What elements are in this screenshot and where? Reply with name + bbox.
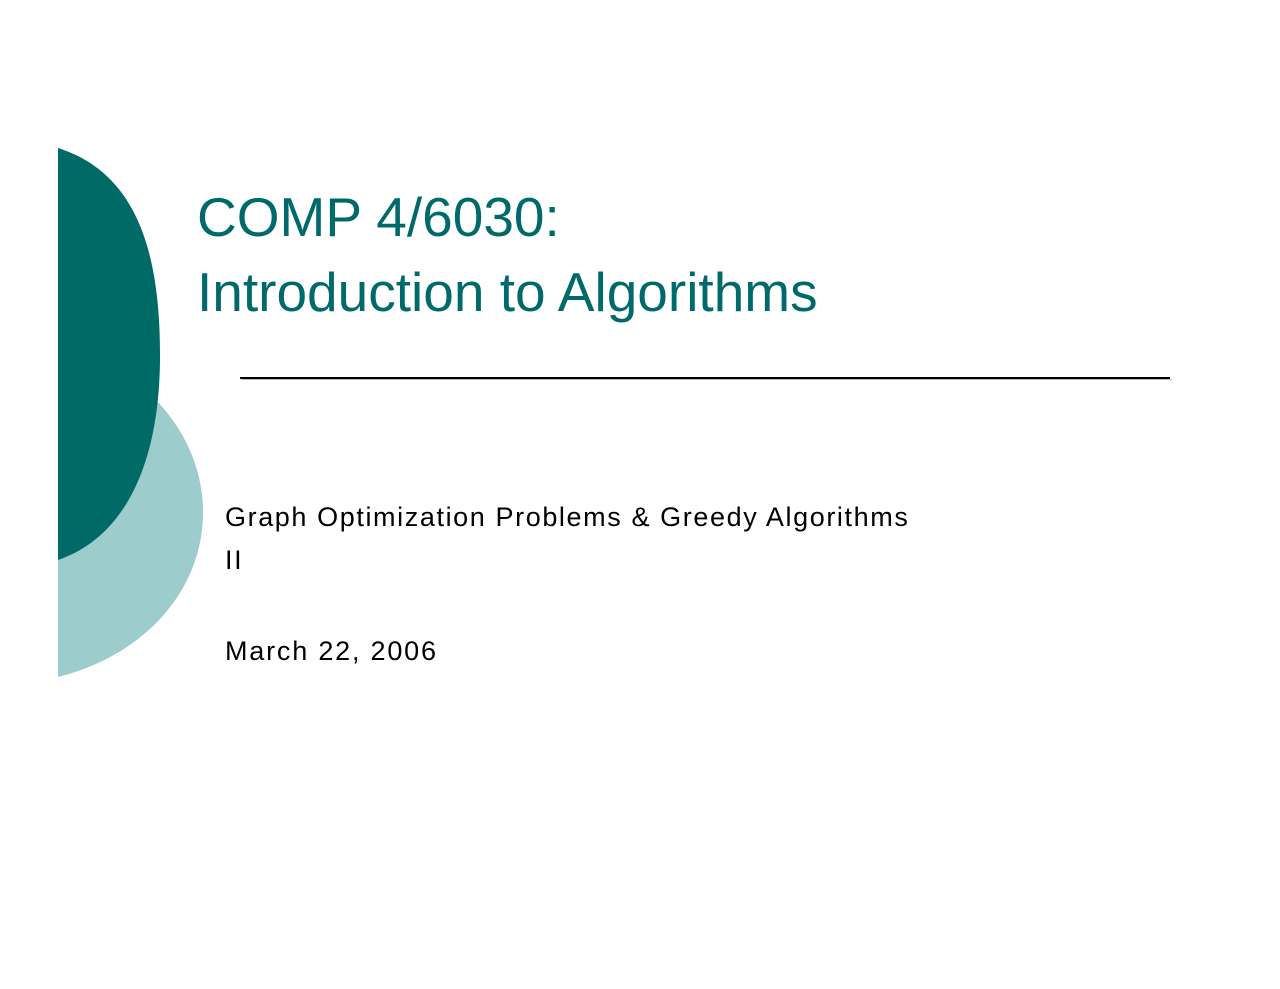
- title-line-1: COMP 4/6030:: [197, 180, 1197, 255]
- title-divider: [240, 377, 1170, 380]
- title-slide: COMP 4/6030: Introduction to Algorithms …: [0, 0, 1280, 989]
- subtitle-line-2: II: [225, 539, 1175, 582]
- slide-subtitle: Graph Optimization Problems & Greedy Alg…: [225, 496, 1175, 582]
- subtitle-line-1: Graph Optimization Problems & Greedy Alg…: [225, 496, 1175, 539]
- decorative-shapes: [0, 0, 280, 989]
- page-title: COMP 4/6030: Introduction to Algorithms: [197, 180, 1197, 330]
- divider-shadow: [242, 379, 1172, 380]
- date-text: March 22, 2006: [225, 631, 825, 671]
- divider-line: [240, 377, 1170, 379]
- light-teal-petal-icon: [58, 345, 203, 677]
- slide-date: March 22, 2006: [225, 631, 825, 671]
- title-line-2: Introduction to Algorithms: [197, 255, 1197, 330]
- dark-teal-petal-icon: [58, 148, 160, 560]
